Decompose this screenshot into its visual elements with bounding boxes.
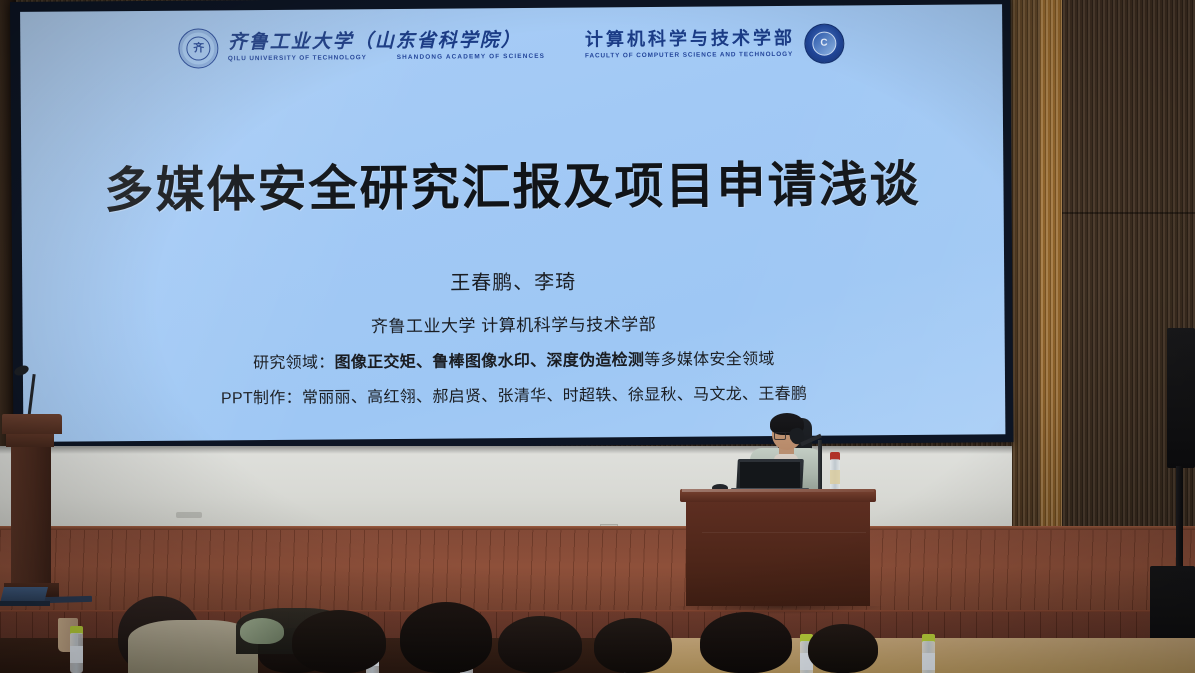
qilu-logo-cn: 齐鲁工业大学（山东省科学院）: [228, 31, 545, 52]
credits-label: PPT制作：: [221, 390, 302, 408]
hair-scrunchie: [240, 618, 284, 644]
faculty-emblem-inner: C: [812, 32, 836, 56]
right-wood-panel-dark: [1012, 0, 1040, 560]
audience-head: [594, 618, 672, 673]
lectern-body: [11, 447, 51, 583]
audience-head: [292, 610, 386, 673]
audience-head: [808, 624, 878, 673]
screen-drop-shadow: [0, 446, 1012, 454]
faculty-logo-en: FACULTY OF COMPUTER SCIENCE AND TECHNOLO…: [585, 52, 795, 60]
lecture-hall-scene: 齐 齐鲁工业大学（山东省科学院） QILU UNIVERSITY OF TECH…: [0, 0, 1195, 673]
slide-authors: 王春鹏、李琦: [22, 262, 1004, 299]
glasses-lens-left: [774, 432, 786, 440]
desk-top: [680, 489, 876, 502]
faculty-logo-text: 计算机科学与技术学部 FACULTY OF COMPUTER SCIENCE A…: [585, 30, 795, 60]
desk-microphone-stem: [818, 440, 822, 490]
right-wood-panel-light: [1040, 0, 1062, 560]
line-array-speaker: [1167, 328, 1195, 468]
qilu-university-logo: 齐 齐鲁工业大学（山东省科学院） QILU UNIVERSITY OF TECH…: [179, 26, 546, 69]
faculty-logo: 计算机科学与技术学部 FACULTY OF COMPUTER SCIENCE A…: [585, 23, 844, 65]
desk-front-panel: [686, 502, 870, 606]
qilu-university-seal-icon: 齐: [179, 28, 219, 68]
slide-affiliation: 齐鲁工业大学 计算机科学与技术学部: [22, 307, 1004, 340]
lectern: [2, 414, 62, 602]
research-tail: 等多媒体安全领域: [644, 351, 775, 369]
qilu-logo-text: 齐鲁工业大学（山东省科学院） QILU UNIVERSITY OF TECHNO…: [228, 31, 545, 63]
slide-title: 多媒体安全研究汇报及项目申请浅谈: [21, 144, 1004, 223]
audience-laptop-base: [0, 601, 50, 606]
desk-bottle-label: [830, 470, 840, 484]
presenter-desk: [680, 489, 876, 613]
speaker-pole: [1176, 466, 1183, 570]
desk-panel-seam: [702, 532, 866, 533]
qilu-logo-en-row: QILU UNIVERSITY OF TECHNOLOGY SHANDONG A…: [228, 50, 545, 63]
qilu-logo-en-main: QILU UNIVERSITY OF TECHNOLOGY: [228, 55, 367, 62]
lectern-neck: [6, 434, 54, 447]
bottle-label: [70, 646, 83, 663]
bottle-label: [922, 653, 935, 670]
faculty-logo-cn: 计算机科学与技术学部: [585, 30, 795, 50]
audience-head: [700, 612, 792, 673]
credits-names: 常丽丽、高红翎、郝启贤、张清华、时超轶、徐显秋、马文龙、王春鹏: [302, 386, 807, 407]
desk-top-highlight: [682, 489, 874, 492]
research-label: 研究领域：: [253, 354, 335, 372]
qilu-logo-en-sub: SHANDONG ACADEMY OF SCIENCES: [397, 54, 545, 62]
wood-panel-seam: [1062, 212, 1195, 214]
desk-shadow: [674, 606, 884, 614]
faculty-emblem-icon: C: [804, 23, 844, 63]
slide-surface: 齐 齐鲁工业大学（山东省科学院） QILU UNIVERSITY OF TECH…: [20, 4, 1005, 442]
research-bold: 图像正交矩、鲁棒图像水印、深度伪造检测: [334, 352, 644, 371]
slide-credits: PPT制作：常丽丽、高红翎、郝启贤、张清华、时超轶、徐显秋、马文龙、王春鹏: [23, 378, 1005, 410]
audience-head: [400, 602, 492, 673]
slide-research-fields: 研究领域：图像正交矩、鲁棒图像水印、深度伪造检测等多媒体安全领域: [23, 343, 1005, 375]
audience-head: [498, 616, 582, 673]
slide-header: 齐 齐鲁工业大学（山东省科学院） QILU UNIVERSITY OF TECH…: [20, 14, 1002, 78]
laptop-display: [740, 462, 800, 488]
wall-mark: [176, 512, 202, 518]
slide-body: 王春鹏、李琦 齐鲁工业大学 计算机科学与技术学部 研究领域：图像正交矩、鲁棒图像…: [22, 262, 1005, 410]
lectern-top: [2, 414, 62, 434]
seal-inner-glyph: 齐: [187, 36, 211, 60]
projection-screen: 齐 齐鲁工业大学（山东省科学院） QILU UNIVERSITY OF TECH…: [10, 0, 1013, 450]
